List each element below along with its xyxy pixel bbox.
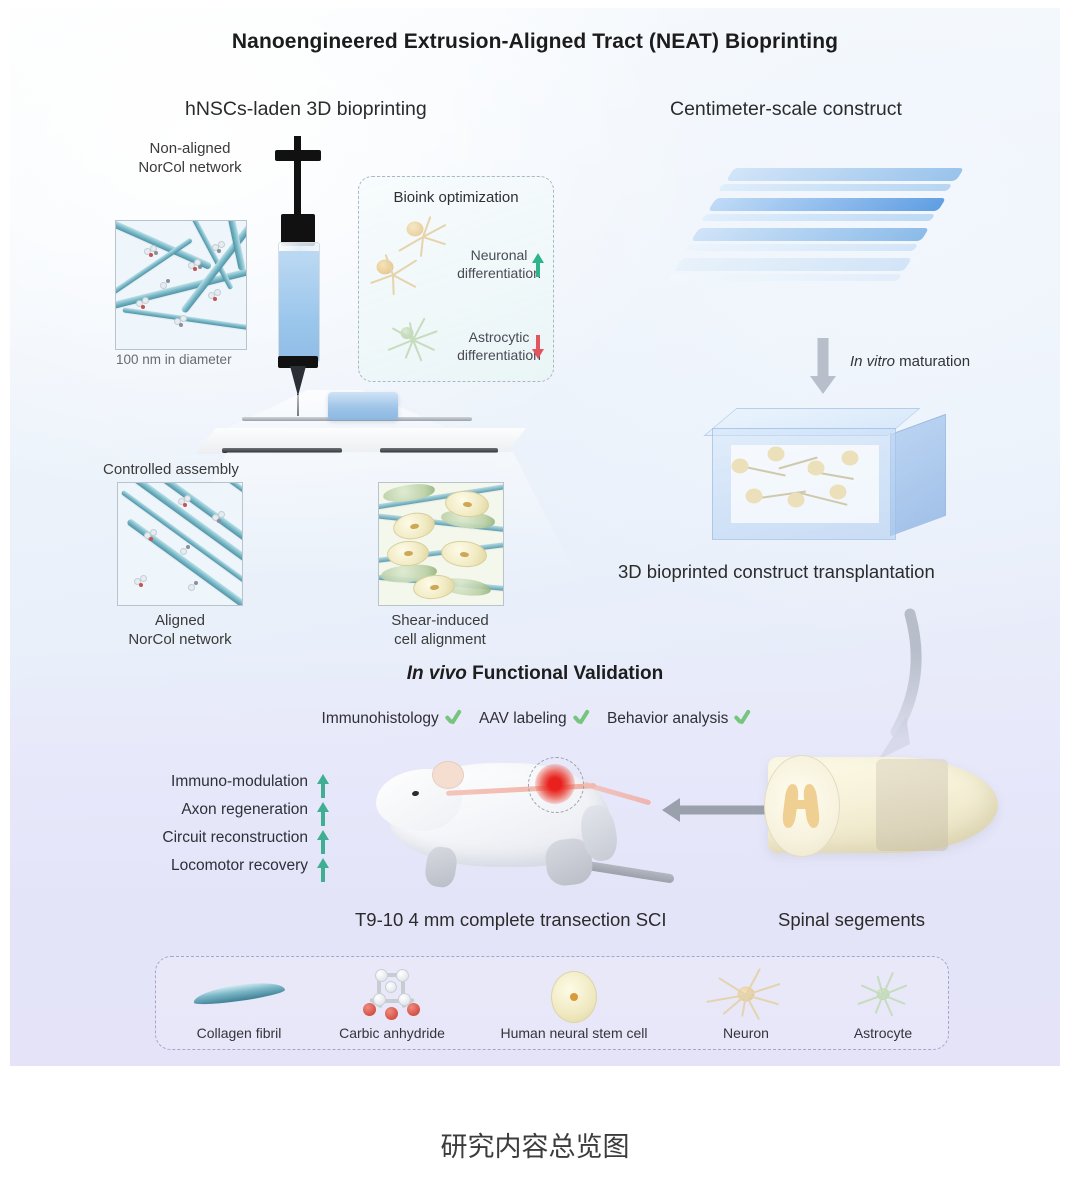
- transplant-construct-block: [690, 408, 950, 568]
- printed-construct-on-stage: [328, 392, 398, 420]
- aligned-network-image: [117, 482, 243, 606]
- syringe-plunger-stem: [294, 160, 301, 220]
- spinal-segment-model: [758, 743, 1014, 903]
- neuronal-up-arrow-icon: [531, 253, 544, 277]
- legend-item-astrocyte: Astrocyte: [818, 963, 948, 1041]
- in-vivo-title-rest: Functional Validation: [467, 663, 663, 684]
- neural-network-inside-block: [730, 444, 880, 524]
- in-vitro-maturation-rest: maturation: [895, 353, 970, 370]
- in-vitro-maturation-arrow: [808, 338, 838, 394]
- fiber-network-nonaligned: [116, 221, 246, 349]
- block-side-face: [890, 414, 946, 536]
- left-section-heading: hNSCs-laden 3D bioprinting: [185, 98, 427, 121]
- legend-panel: Collagen fibril: [155, 956, 949, 1050]
- non-aligned-label: Non-aligned NorCol network: [110, 140, 270, 178]
- astrocytic-down-arrow-icon: [531, 335, 544, 359]
- syringe-bioink: [279, 251, 319, 363]
- scale-note: 100 nm in diameter: [116, 352, 232, 369]
- validation-item-1: AAV labeling: [475, 710, 591, 727]
- carbic-anhydride-icon: [312, 963, 472, 1025]
- astrocyte-icon: [818, 963, 948, 1025]
- in-vitro-maturation-label: In vitro maturation: [850, 353, 970, 372]
- lesion-site: [535, 764, 575, 804]
- outcome-item-2: Circuit reconstruction: [98, 824, 308, 852]
- figure-caption: 研究内容总览图: [0, 1125, 1070, 1164]
- outcome-item-0: Immuno-modulation: [98, 768, 308, 796]
- bioink-optimization-panel: Bioink optimization Neuronal differentia…: [358, 176, 554, 382]
- neuron-cluster-icon: [367, 215, 463, 301]
- segment-to-mouse-arrow: [662, 798, 770, 822]
- validation-item-0: Immunohistology: [318, 710, 463, 727]
- validation-label-2: Behavior analysis: [607, 710, 728, 727]
- mouse-model: [350, 743, 680, 903]
- sci-model-label: T9-10 4 mm complete transection SCI: [355, 908, 667, 931]
- validation-label-0: Immunohistology: [322, 710, 439, 727]
- in-vivo-validation-list: Immunohistology AAV labeling Behavior an…: [10, 708, 1060, 728]
- check-icon-2: [732, 708, 752, 726]
- validation-item-2: Behavior analysis: [603, 710, 752, 727]
- legend-label-0: Collagen fibril: [164, 1025, 314, 1041]
- figure-title: Nanoengineered Extrusion-Aligned Tract (…: [10, 30, 1060, 54]
- gray-matter-butterfly-icon: [784, 784, 818, 828]
- schematic-figure: Nanoengineered Extrusion-Aligned Tract (…: [10, 8, 1060, 1066]
- astrocyte-icon-bioink: [373, 303, 457, 375]
- mouse-ear: [432, 761, 464, 789]
- collagen-fibril-icon: [164, 963, 314, 1025]
- check-icon-1: [571, 708, 591, 726]
- in-vitro-maturation-italic: In vitro: [850, 353, 895, 370]
- human-neural-stem-cell-icon: [474, 963, 674, 1025]
- outcome-up-arrow-0: [316, 774, 329, 798]
- aligned-network-label: Aligned NorCol network: [118, 612, 242, 650]
- transplantation-label: 3D bioprinted construct transplantation: [618, 560, 935, 583]
- shear-aligned-cells-image: [378, 482, 504, 606]
- legend-label-2: Human neural stem cell: [474, 1025, 674, 1041]
- outcome-up-arrow-1: [316, 802, 329, 826]
- in-vivo-title: In vivo Functional Validation: [10, 663, 1060, 685]
- syringe-nozzle: [290, 366, 306, 396]
- legend-label-4: Astrocyte: [818, 1025, 948, 1041]
- legend-label-3: Neuron: [676, 1025, 816, 1041]
- fiber-network-shear: [379, 483, 503, 605]
- legend-item-neuron: Neuron: [676, 963, 816, 1041]
- centimeter-scale-construct: [670, 158, 970, 318]
- spinal-segments-label: Spinal segements: [778, 908, 925, 931]
- neuron-icon: [676, 963, 816, 1025]
- legend-item-collagen: Collagen fibril: [164, 963, 314, 1041]
- legend-item-carbic: Carbic anhydride: [312, 963, 472, 1041]
- bioink-panel-title: Bioink optimization: [359, 189, 553, 206]
- figure-page: Nanoengineered Extrusion-Aligned Tract (…: [0, 0, 1070, 1192]
- non-aligned-network-image: [115, 220, 247, 350]
- check-icon-0: [443, 708, 463, 726]
- in-vivo-title-italic: In vivo: [407, 663, 467, 684]
- cord-cross-section-face: [764, 755, 840, 857]
- validation-label-1: AAV labeling: [479, 710, 567, 727]
- outcome-item-3: Locomotor recovery: [98, 852, 308, 880]
- outcome-up-arrow-2: [316, 830, 329, 854]
- graft-region: [876, 759, 948, 851]
- fiber-network-aligned: [118, 483, 242, 605]
- legend-item-hnsc: Human neural stem cell: [474, 963, 674, 1041]
- controlled-assembly-heading: Controlled assembly: [103, 461, 239, 480]
- syringe-barrel: [278, 242, 320, 364]
- outcome-item-1: Axon regeneration: [98, 796, 308, 824]
- outcome-list: Immuno-modulation Axon regeneration Circ…: [98, 768, 308, 880]
- non-aligned-label-line1: Non-aligned: [110, 140, 270, 159]
- shear-alignment-label: Shear-induced cell alignment: [378, 612, 502, 650]
- outcome-up-arrow-3: [316, 858, 329, 882]
- aligned-label-line1: Aligned: [118, 612, 242, 631]
- shear-label-line1: Shear-induced: [378, 612, 502, 631]
- non-aligned-label-line2: NorCol network: [110, 159, 270, 178]
- legend-label-1: Carbic anhydride: [312, 1025, 472, 1041]
- shear-label-line2: cell alignment: [378, 631, 502, 650]
- right-section-heading: Centimeter-scale construct: [670, 98, 902, 121]
- aligned-label-line2: NorCol network: [118, 631, 242, 650]
